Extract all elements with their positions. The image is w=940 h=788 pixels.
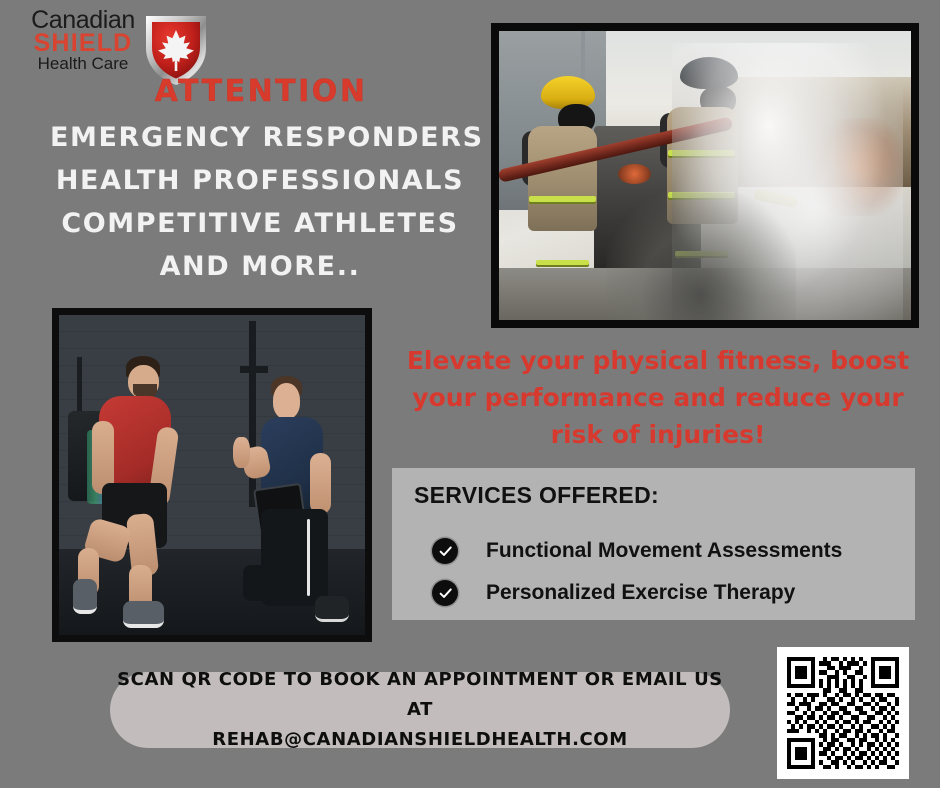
gym-photo-frame — [52, 308, 372, 642]
hi-vis-stripe — [529, 196, 595, 202]
coach-open-hand — [233, 437, 250, 468]
service-item: Functional Movement Assessments — [432, 530, 902, 572]
check-circle-icon — [432, 580, 458, 606]
audience-line-3: COMPETITIVE ATHLETES — [50, 202, 470, 245]
athlete-figure — [71, 353, 242, 635]
coach-kneeling-shin — [243, 565, 294, 601]
service-label: Personalized Exercise Therapy — [486, 581, 795, 605]
cta-line-1: SCAN QR CODE TO BOOK AN APPOINTMENT OR E… — [110, 665, 730, 725]
audience-line-4: AND MORE.. — [50, 245, 470, 288]
athlete-rear-shoe — [73, 579, 97, 614]
hi-vis-stripe — [536, 260, 590, 265]
cta-email[interactable]: REHAB@CANADIANSHIELDHEALTH.COM — [212, 725, 627, 755]
qr-code[interactable] — [777, 647, 909, 779]
athlete-front-shoe — [123, 601, 164, 628]
poster-canvas: Canadian SHIELD Health Care — [0, 0, 940, 788]
services-list: Functional Movement Assessments Personal… — [432, 530, 902, 614]
cta-banner: SCAN QR CODE TO BOOK AN APPOINTMENT OR E… — [110, 672, 730, 748]
coach-shoe — [315, 596, 348, 622]
smoke-dark — [606, 193, 796, 320]
service-item: Personalized Exercise Therapy — [432, 572, 902, 614]
audience-line-2: HEALTH PROFESSIONALS — [50, 159, 470, 202]
services-title: SERVICES OFFERED: — [414, 482, 659, 509]
coach-head — [273, 383, 300, 419]
audience-line-1: EMERGENCY RESPONDERS — [50, 116, 470, 159]
brand-wordmark: Canadian SHIELD Health Care — [24, 8, 142, 72]
services-panel: SERVICES OFFERED: Functional Movement As… — [392, 468, 915, 620]
squat-rack-arm — [240, 366, 268, 373]
attention-headline: ATTENTION — [96, 74, 426, 109]
brand-line-shield: SHIELD — [24, 31, 142, 56]
check-circle-icon — [432, 538, 458, 564]
firefighters-photo-frame — [491, 23, 919, 328]
firefighters-photo — [499, 31, 911, 320]
turnout-pants — [535, 223, 593, 320]
coach-figure — [230, 376, 359, 632]
tagline-text: Elevate your physical fitness, boost you… — [404, 342, 912, 453]
brand-line-health-care: Health Care — [24, 55, 142, 72]
coach-right-arm — [310, 453, 331, 514]
service-label: Functional Movement Assessments — [486, 539, 842, 563]
gym-photo — [59, 315, 365, 635]
audience-list: EMERGENCY RESPONDERS HEALTH PROFESSIONAL… — [50, 116, 470, 288]
turnout-coat — [528, 126, 597, 230]
qr-code-matrix — [787, 657, 899, 769]
